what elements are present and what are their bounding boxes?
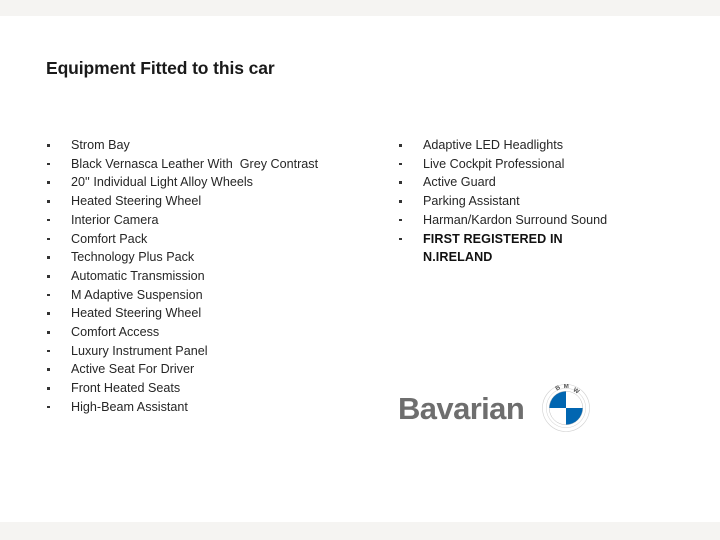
equipment-item: Heated Steering Wheel — [44, 304, 389, 323]
equipment-item: Harman/Kardon Surround Sound — [396, 211, 686, 230]
equipment-item: Comfort Access — [44, 323, 389, 342]
equipment-list-right: Adaptive LED HeadlightsLive Cockpit Prof… — [396, 136, 686, 267]
slide-canvas: Equipment Fitted to this car Strom BayBl… — [0, 16, 720, 522]
equipment-item: Front Heated Seats — [44, 379, 389, 398]
brand-lockup: Bavarian B M W — [398, 384, 590, 432]
equipment-item: 20'' Individual Light Alloy Wheels — [44, 173, 389, 192]
letterbox-top-band — [0, 0, 720, 16]
equipment-item: FIRST REGISTERED IN N.IRELAND — [396, 230, 686, 267]
equipment-item: Adaptive LED Headlights — [396, 136, 686, 155]
equipment-item: Technology Plus Pack — [44, 248, 389, 267]
equipment-item: High-Beam Assistant — [44, 398, 389, 417]
equipment-item: Automatic Transmission — [44, 267, 389, 286]
bavarian-wordmark: Bavarian — [398, 393, 524, 424]
equipment-item: Live Cockpit Professional — [396, 155, 686, 174]
equipment-column-left: Strom BayBlack Vernasca Leather With Gre… — [44, 136, 389, 417]
equipment-column-right: Adaptive LED HeadlightsLive Cockpit Prof… — [396, 136, 686, 267]
bmw-roundel-icon: B M W — [542, 384, 590, 432]
letterbox-bottom-band — [0, 522, 720, 540]
equipment-item: Luxury Instrument Panel — [44, 342, 389, 361]
equipment-item: Heated Steering Wheel — [44, 192, 389, 211]
equipment-list-left: Strom BayBlack Vernasca Leather With Gre… — [44, 136, 389, 417]
equipment-item: Interior Camera — [44, 211, 389, 230]
equipment-item: Comfort Pack — [44, 230, 389, 249]
equipment-item: Parking Assistant — [396, 192, 686, 211]
page-title: Equipment Fitted to this car — [46, 58, 275, 79]
svg-text:M: M — [564, 384, 569, 390]
equipment-item: Active Guard — [396, 173, 686, 192]
equipment-item: Black Vernasca Leather With Grey Contras… — [44, 155, 389, 174]
equipment-item: Strom Bay — [44, 136, 389, 155]
equipment-item: M Adaptive Suspension — [44, 286, 389, 305]
equipment-item: Active Seat For Driver — [44, 360, 389, 379]
